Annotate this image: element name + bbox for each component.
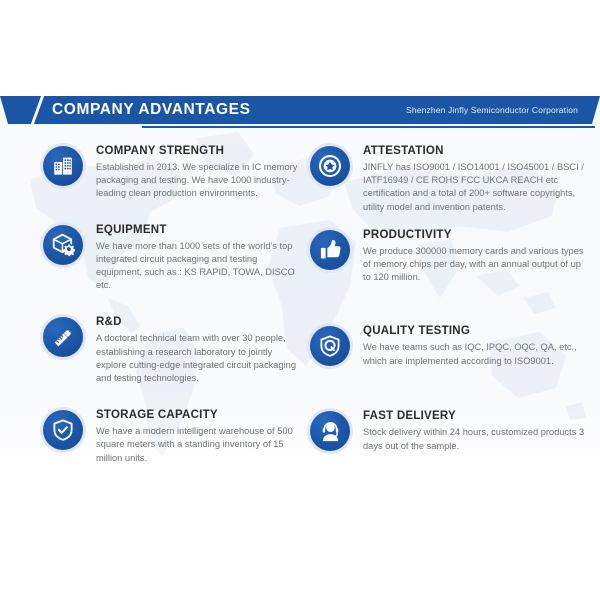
advantage-description: We have a modern intelligent warehouse o… [96,425,302,465]
advantages-page: COMPANY ADVANTAGES Shenzhen Jinfly Semic… [0,0,600,600]
advantage-description: We produce 300000 memory cards and vario… [363,245,585,285]
page-title: COMPANY ADVANTAGES [52,100,251,120]
building-icon [40,143,86,189]
advantage-title: EQUIPMENT [96,223,302,238]
advantage-description: We have more than 1000 sets of the world… [96,240,302,293]
headset-support-icon [307,408,353,454]
advantage-title: QUALITY TESTING [363,324,585,339]
advantage-item-fast-delivery: FAST DELIVERY Stock delivery within 24 h… [307,408,585,454]
advantage-description: Established in 2013. We specialize in IC… [96,161,302,201]
advantage-item-rd: R&D A doctoral technical team with over … [40,314,302,385]
header-banner: COMPANY ADVANTAGES Shenzhen Jinfly Semic… [0,96,600,130]
advantage-description: Stock delivery within 24 hours, customiz… [363,426,585,452]
advantage-title: COMPANY STRENGTH [96,144,302,159]
advantage-item-storage-capacity: STORAGE CAPACITY We have a modern intell… [40,407,302,465]
advantage-title: ATTESTATION [363,144,585,159]
advantage-item-equipment: EQUIPMENT We have more than 1000 sets of… [40,222,302,293]
advantage-item-quality-testing: QUALITY TESTING We have teams such as IQ… [307,323,585,369]
advantage-title: PRODUCTIVITY [363,228,585,243]
advantage-description: JINFLY has ISO9001 / ISO14001 / ISO45001… [363,161,585,214]
advantages-right-column: ATTESTATION JINFLY has ISO9001 / ISO1400… [307,143,585,454]
star-badge-icon [307,143,353,189]
banner-underline [142,126,595,128]
advantage-description: A doctoral technical team with over 30 p… [96,332,302,385]
advantage-title: R&D [96,315,302,330]
advantage-item-productivity: PRODUCTIVITY We produce 300000 memory ca… [307,227,585,285]
advantage-title: FAST DELIVERY [363,409,585,424]
advantage-description: We have teams such as IQC, IPQC, OQC, QA… [363,341,585,367]
shield-check-icon [40,407,86,453]
box-gear-icon [40,222,86,268]
advantage-item-company-strength: COMPANY STRENGTH Established in 2013. We… [40,143,302,201]
advantages-left-column: COMPANY STRENGTH Established in 2013. We… [40,143,302,465]
thumbs-up-icon [307,227,353,273]
advantage-item-attestation: ATTESTATION JINFLY has ISO9001 / ISO1400… [307,143,585,214]
shield-q-icon [307,323,353,369]
advantage-title: STORAGE CAPACITY [96,408,302,423]
ruler-pencil-icon [40,314,86,360]
corporation-name: Shenzhen Jinfly Semiconductor Corporatio… [406,104,578,116]
